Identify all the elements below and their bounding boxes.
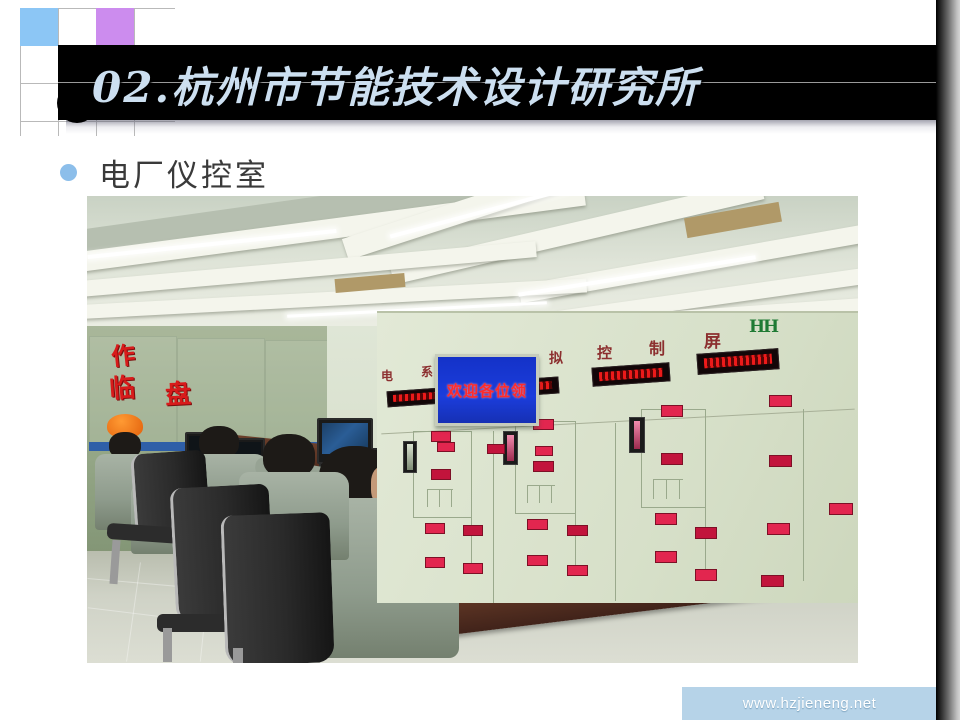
led-indicator — [661, 405, 683, 417]
mimic-trace — [551, 485, 552, 503]
bullet-dot-icon — [60, 164, 77, 181]
footer-url-text: www.hzjieneng.net — [743, 695, 877, 712]
mimic-trace — [493, 431, 494, 603]
led-display — [696, 348, 779, 375]
mimic-board-char: 系 — [421, 363, 433, 380]
led-indicator — [567, 565, 588, 576]
mimic-board-char: 拟 — [549, 348, 563, 368]
led-indicator — [829, 503, 853, 515]
mimic-trace — [439, 489, 440, 507]
led-indicator — [761, 575, 784, 587]
led-indicator — [425, 557, 445, 568]
mimic-trace — [641, 507, 705, 508]
led-indicator — [425, 523, 445, 534]
blue-square — [20, 8, 58, 46]
office-chair-leg — [233, 648, 243, 663]
control-switch — [629, 417, 645, 453]
led-indicator — [769, 455, 792, 467]
mimic-board-char: 屏 — [704, 327, 721, 352]
mimic-trace — [803, 409, 804, 581]
led-indicator — [533, 461, 554, 472]
led-indicator — [655, 513, 677, 525]
led-indicator — [527, 555, 548, 566]
led-display — [591, 362, 670, 386]
mimic-trace — [427, 489, 428, 507]
mimic-board-char: 电 — [381, 367, 393, 384]
led-indicator — [695, 527, 717, 539]
led-indicator — [437, 442, 455, 452]
black-circle — [57, 83, 97, 123]
footer-url-band: www.hzjieneng.net — [682, 687, 937, 720]
welcome-display-screen: 欢迎各位领 — [435, 354, 539, 426]
mimic-trace — [705, 409, 706, 569]
mimic-trace — [539, 485, 540, 503]
mimic-trace — [413, 517, 471, 518]
led-indicator — [535, 446, 553, 456]
welcome-display-text: 欢迎各位领 — [447, 380, 527, 401]
led-indicator — [431, 431, 451, 442]
led-indicator — [567, 525, 588, 536]
mimic-trace — [427, 489, 453, 490]
led-indicator — [463, 563, 483, 574]
mimic-trace — [615, 423, 616, 601]
control-switch — [403, 441, 417, 473]
led-indicator — [463, 525, 483, 536]
control-switch — [503, 431, 518, 465]
led-indicator — [769, 395, 792, 407]
purple-square — [96, 8, 134, 46]
mimic-board-char: 制 — [649, 335, 665, 359]
led-indicator — [661, 453, 683, 465]
mimic-trace — [515, 513, 575, 514]
slide-canvas: 02.杭州市节能技术设计研究所 电厂仪控室 作 临 盘 — [0, 0, 960, 720]
led-indicator — [767, 523, 790, 535]
wall-banner-char: 盘 — [164, 373, 192, 411]
led-indicator — [431, 469, 451, 480]
office-chair-leg — [163, 628, 172, 662]
office-chair-back — [220, 512, 334, 663]
led-indicator — [527, 519, 548, 530]
led-indicator — [487, 444, 505, 454]
mimic-trace — [575, 421, 576, 571]
page-title: 02.杭州市节能技术设计研究所 — [92, 50, 922, 118]
bullet-item-label: 电厂仪控室 — [99, 150, 269, 195]
mimic-trace — [451, 489, 452, 507]
mimic-trace — [666, 479, 667, 499]
mimic-trace — [527, 485, 528, 503]
control-room-photo: 作 临 盘 电 系 统 模 拟 控 制 屏 HH — [87, 196, 858, 663]
mimic-trace — [471, 431, 472, 571]
mimic-trace — [653, 479, 654, 499]
hh-logo: HH — [749, 317, 777, 337]
led-indicator — [695, 569, 717, 581]
mimic-trace — [679, 479, 680, 499]
mimic-board-char: 控 — [597, 342, 612, 363]
right-edge-strip — [936, 0, 960, 720]
led-indicator — [655, 551, 677, 563]
wall-banner-char: 临 — [108, 367, 137, 406]
bullet-item: 电厂仪控室 — [60, 150, 269, 195]
